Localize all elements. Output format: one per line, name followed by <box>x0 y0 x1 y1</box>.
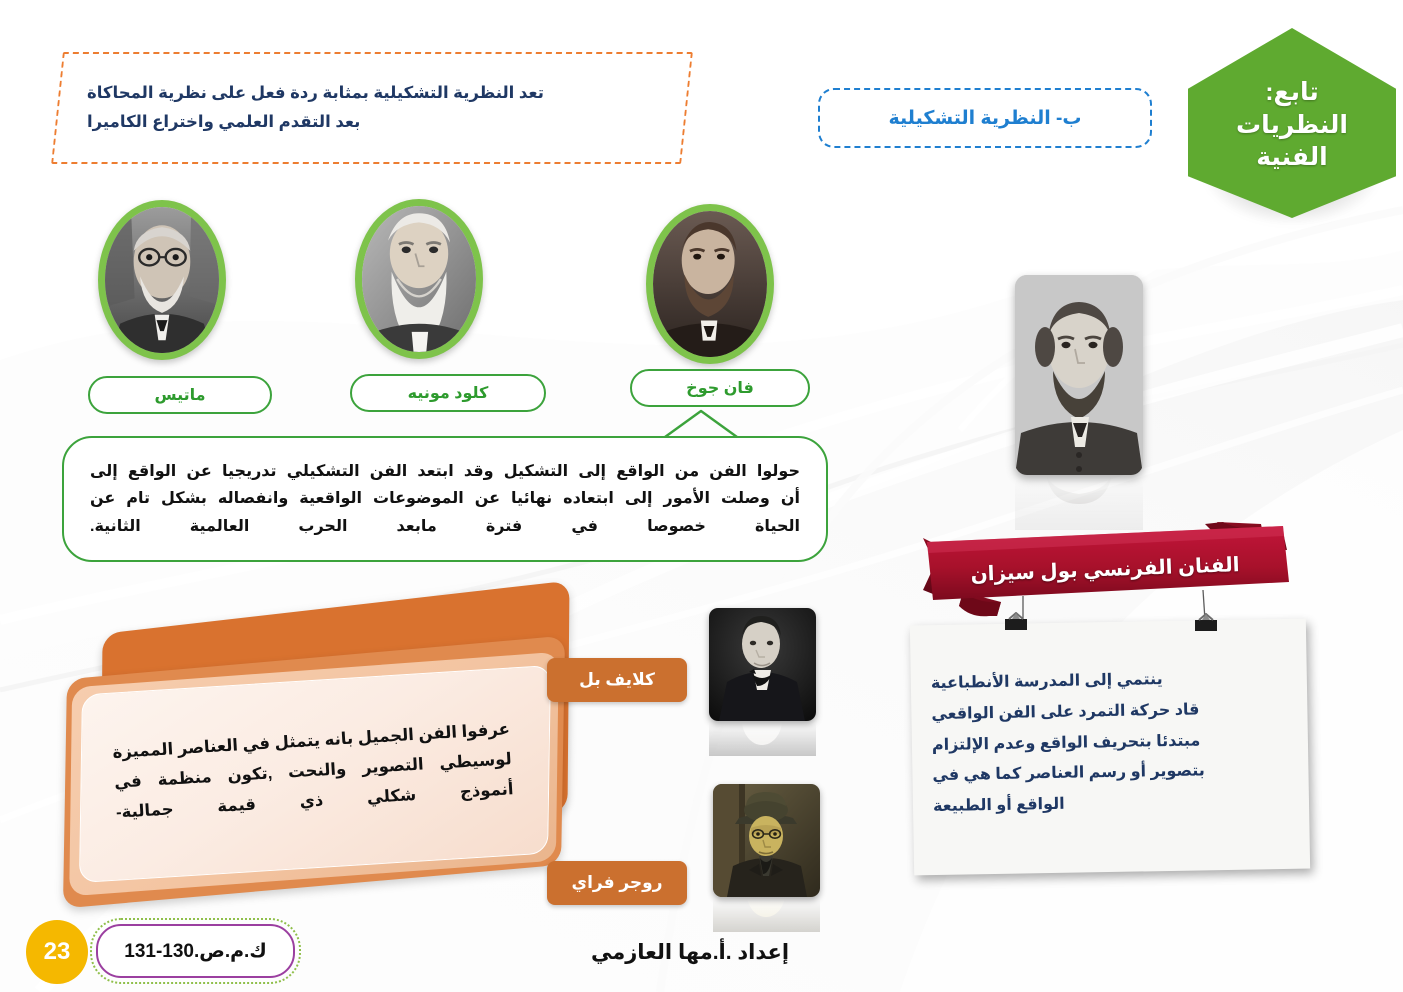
intro-callout: تعد النظرية التشكيلية بمثابة ردة فعل على… <box>57 52 687 164</box>
author-credit: إعداد .أ.مها العازمي <box>560 932 820 972</box>
green-info-tail <box>663 409 739 439</box>
page-title-line-2: النظريات <box>1236 110 1348 141</box>
cezanne-line-3: مبتدئا بتحريف الواقع وعدم الإلتزام <box>932 726 1201 761</box>
clive-bell-photo <box>709 608 816 721</box>
cezanne-info-text: ينتمي إلى المدرسة الأنطباعية قاد حركة ال… <box>910 619 1310 876</box>
formalism-quote-text: عرفوا الفن الجميل بانه يتمثل في العناصر … <box>84 683 542 859</box>
binder-clip-icon-right <box>1193 613 1219 631</box>
critic-label-roger-fry: روجر فراي <box>547 861 687 905</box>
cezanne-portrait <box>1015 275 1143 475</box>
cezanne-ribbon-banner: الفنان الفرنسي بول سيزان <box>905 520 1325 625</box>
artist-portrait-matisse <box>98 200 226 360</box>
roger-fry-photo-reflection <box>713 898 820 932</box>
theory-description-box: حولوا الفن من الواقع إلى التشكيل وقد ابت… <box>62 436 828 562</box>
page-title: تابع: النظريات الفنية <box>1188 28 1396 218</box>
theory-line-1: حولوا الفن من الواقع إلى التشكيل وقد ابت… <box>90 458 800 485</box>
page-title-banner: تابع: النظريات الفنية <box>1188 28 1396 218</box>
artist-name-monet: كلود مونيه <box>350 374 546 412</box>
artist-portrait-monet <box>355 199 483 359</box>
cezanne-line-5: الواقع أو الطبيعة <box>933 790 1065 823</box>
binder-clip-icon-left <box>1003 612 1029 630</box>
cezanne-line-1: ينتمي إلى المدرسة الأنطباعية <box>931 665 1163 700</box>
formalism-quote-callout: عرفوا الفن الجميل بانه يتمثل في العناصر … <box>58 608 618 918</box>
intro-line-1: تعد النظرية التشكيلية بمثابة ردة فعل على… <box>87 79 544 108</box>
intro-line-2: بعد التقدم العلمي واختراع الكاميرا <box>87 108 360 137</box>
page-title-line-1: تابع: <box>1265 77 1319 108</box>
theory-description-text: حولوا الفن من الواقع إلى التشكيل وقد ابت… <box>64 438 826 560</box>
reference-pill: ك.م.ص.130-131 <box>96 924 295 978</box>
roger-fry-photo <box>713 784 820 897</box>
theory-line-2: أن وصلت الأمور إلى ابتعاده نهائيا عن الم… <box>90 485 800 512</box>
cezanne-line-4: بتصوير أو رسم العناصر كما هي في <box>932 757 1205 792</box>
artist-name-vangogh: فان جوخ <box>630 369 810 407</box>
page-title-line-3: الفنية <box>1256 142 1328 173</box>
theory-line-3: الحياة خصوصا في فترة مابعد الحرب العالمي… <box>90 513 800 540</box>
intro-callout-text: تعد النظرية التشكيلية بمثابة ردة فعل على… <box>57 52 687 164</box>
section-subtitle: ب- النظرية التشكيلية <box>818 88 1152 148</box>
page-number-badge: 23 <box>26 920 88 984</box>
critic-label-clive-bell: كلايف بل <box>547 658 687 702</box>
artist-portrait-vangogh <box>646 204 774 364</box>
cezanne-line-2: قاد حركة التمرد على الفن الواقعي <box>931 695 1200 730</box>
cezanne-info-card: ينتمي إلى المدرسة الأنطباعية قاد حركة ال… <box>910 619 1310 876</box>
clive-bell-photo-reflection <box>709 722 816 756</box>
artist-name-matisse: ماتيس <box>88 376 272 414</box>
